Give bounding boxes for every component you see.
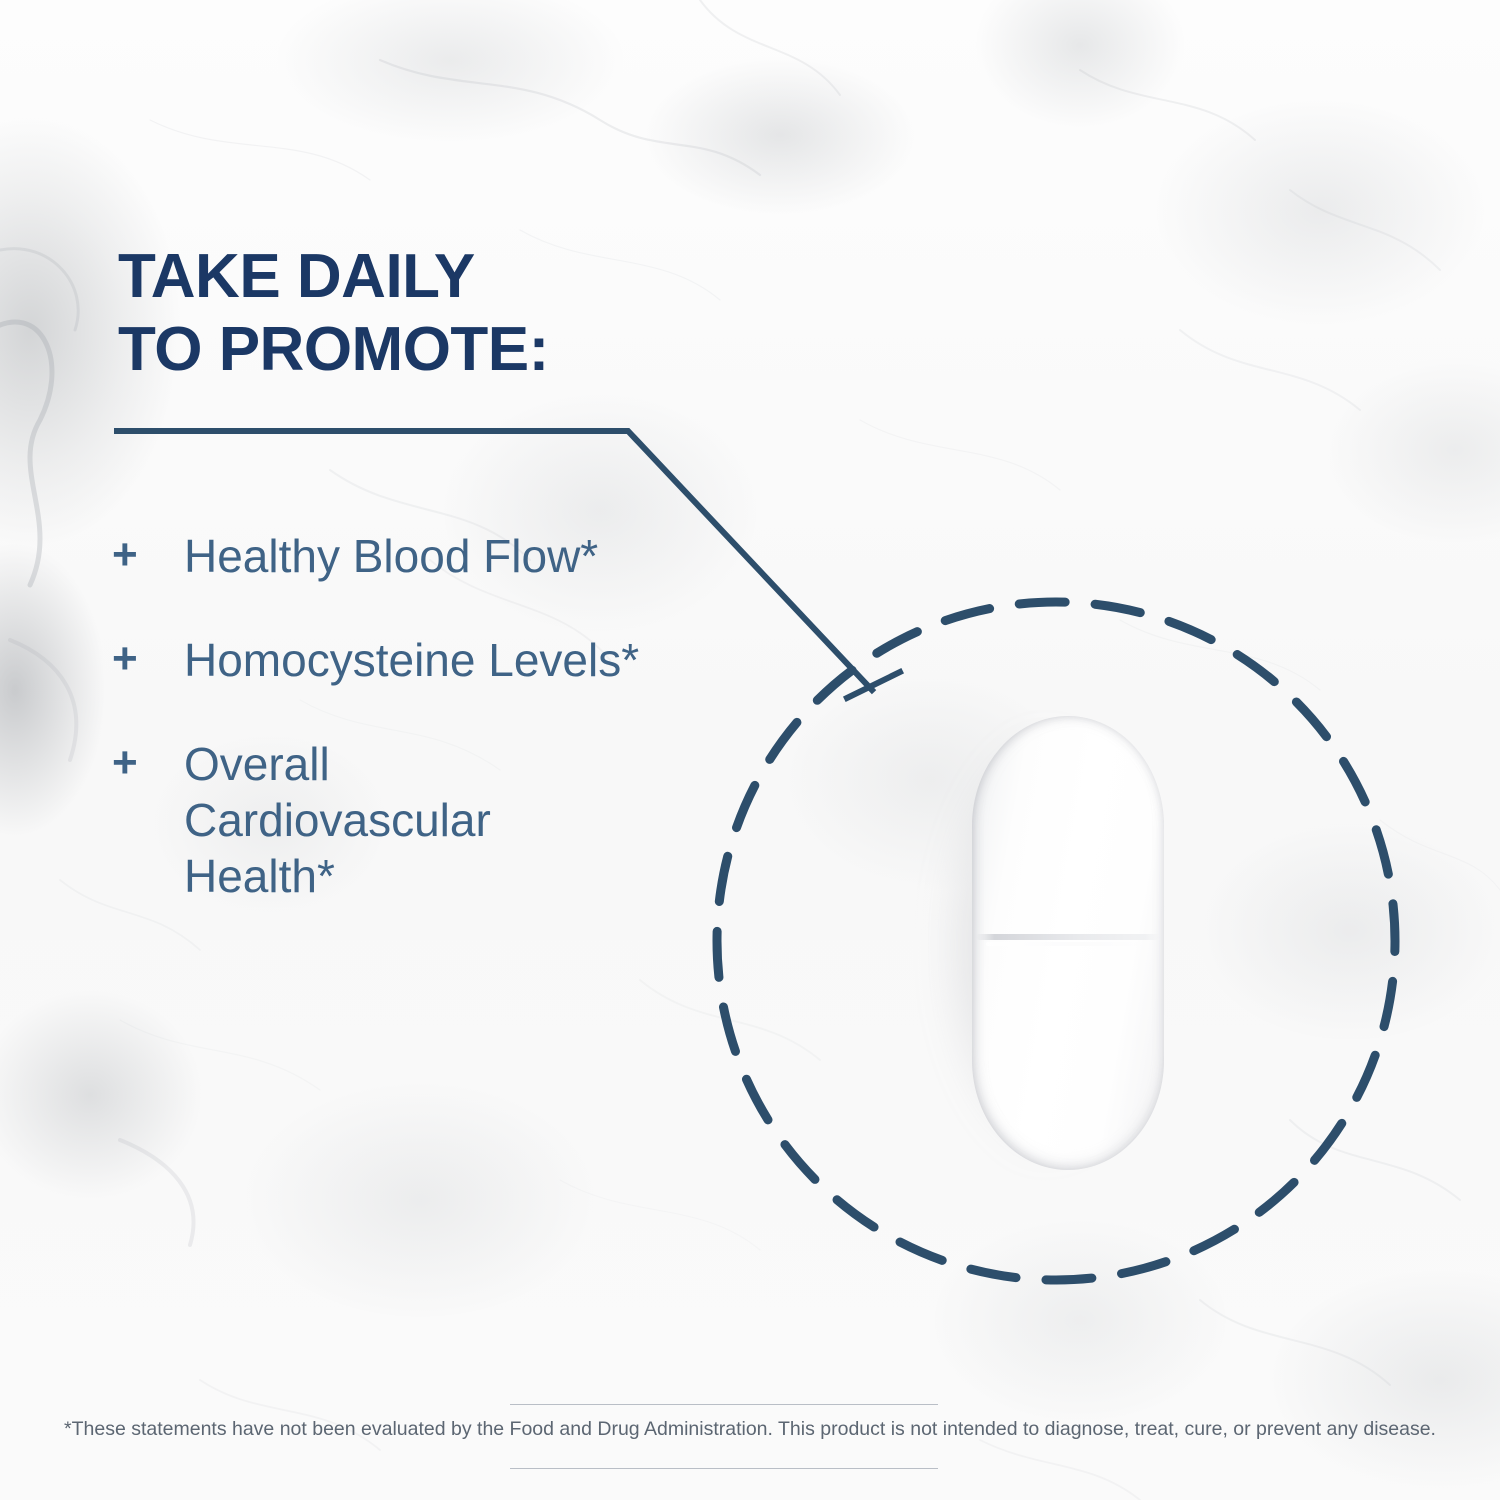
disclaimer-rule-top — [510, 1404, 938, 1405]
product-tablet — [972, 716, 1164, 1170]
product-benefits-infographic: TAKE DAILY TO PROMOTE: + Healthy Blood F… — [0, 0, 1500, 1500]
tablet-body — [972, 716, 1164, 1170]
tablet-score-highlight — [986, 942, 1146, 946]
disclaimer-rule-bottom — [510, 1468, 938, 1469]
tablet-score-line — [976, 934, 1160, 940]
disclaimer-text: *These statements have not been evaluate… — [0, 1418, 1500, 1441]
dashed-highlight-circle — [0, 0, 1500, 1500]
